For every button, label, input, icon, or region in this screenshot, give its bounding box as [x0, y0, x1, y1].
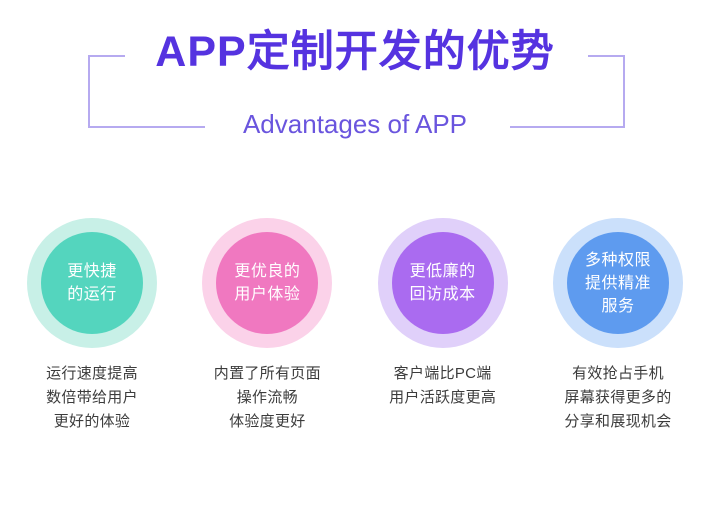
bubble-label-2: 更优良的 用户体验	[234, 260, 300, 306]
bubble-ring-3: 更低廉的 回访成本	[378, 218, 508, 348]
advantage-caption-4: 有效抢占手机 屏幕获得更多的 分享和展现机会	[564, 362, 671, 434]
bubble-label-3: 更低廉的 回访成本	[410, 260, 476, 306]
bubble-circle-4: 多种权限 提供精准 服务	[567, 232, 669, 334]
header-section: APP定制开发的优势 Advantages of APP	[0, 0, 710, 160]
page-subtitle: Advantages of APP	[0, 108, 710, 140]
bubble-circle-1: 更快捷 的运行	[41, 232, 143, 334]
bubble-circle-3: 更低廉的 回访成本	[392, 232, 494, 334]
advantage-card-1: 更快捷 的运行 运行速度提高 数倍带给用户 更好的体验	[12, 218, 172, 468]
bubble-ring-4: 多种权限 提供精准 服务	[553, 218, 683, 348]
advantage-caption-3: 客户端比PC端 用户活跃度更高	[389, 362, 496, 410]
bubble-ring-2: 更优良的 用户体验	[202, 218, 332, 348]
advantage-card-3: 更低廉的 回访成本 客户端比PC端 用户活跃度更高	[363, 218, 523, 468]
bubble-circle-2: 更优良的 用户体验	[216, 232, 318, 334]
advantage-card-2: 更优良的 用户体验 内置了所有页面 操作流畅 体验度更好	[187, 218, 347, 468]
advantage-caption-1: 运行速度提高 数倍带给用户 更好的体验	[46, 362, 138, 434]
advantage-caption-2: 内置了所有页面 操作流畅 体验度更好	[214, 362, 321, 434]
page-title: APP定制开发的优势	[0, 27, 710, 77]
bubble-label-1: 更快捷 的运行	[67, 260, 117, 306]
advantage-card-list: 更快捷 的运行 运行速度提高 数倍带给用户 更好的体验 更优良的 用户体验 内置…	[0, 218, 710, 468]
advantage-card-4: 多种权限 提供精准 服务 有效抢占手机 屏幕获得更多的 分享和展现机会	[538, 218, 698, 468]
bubble-label-4: 多种权限 提供精准 服务	[585, 249, 651, 318]
bubble-ring-1: 更快捷 的运行	[27, 218, 157, 348]
